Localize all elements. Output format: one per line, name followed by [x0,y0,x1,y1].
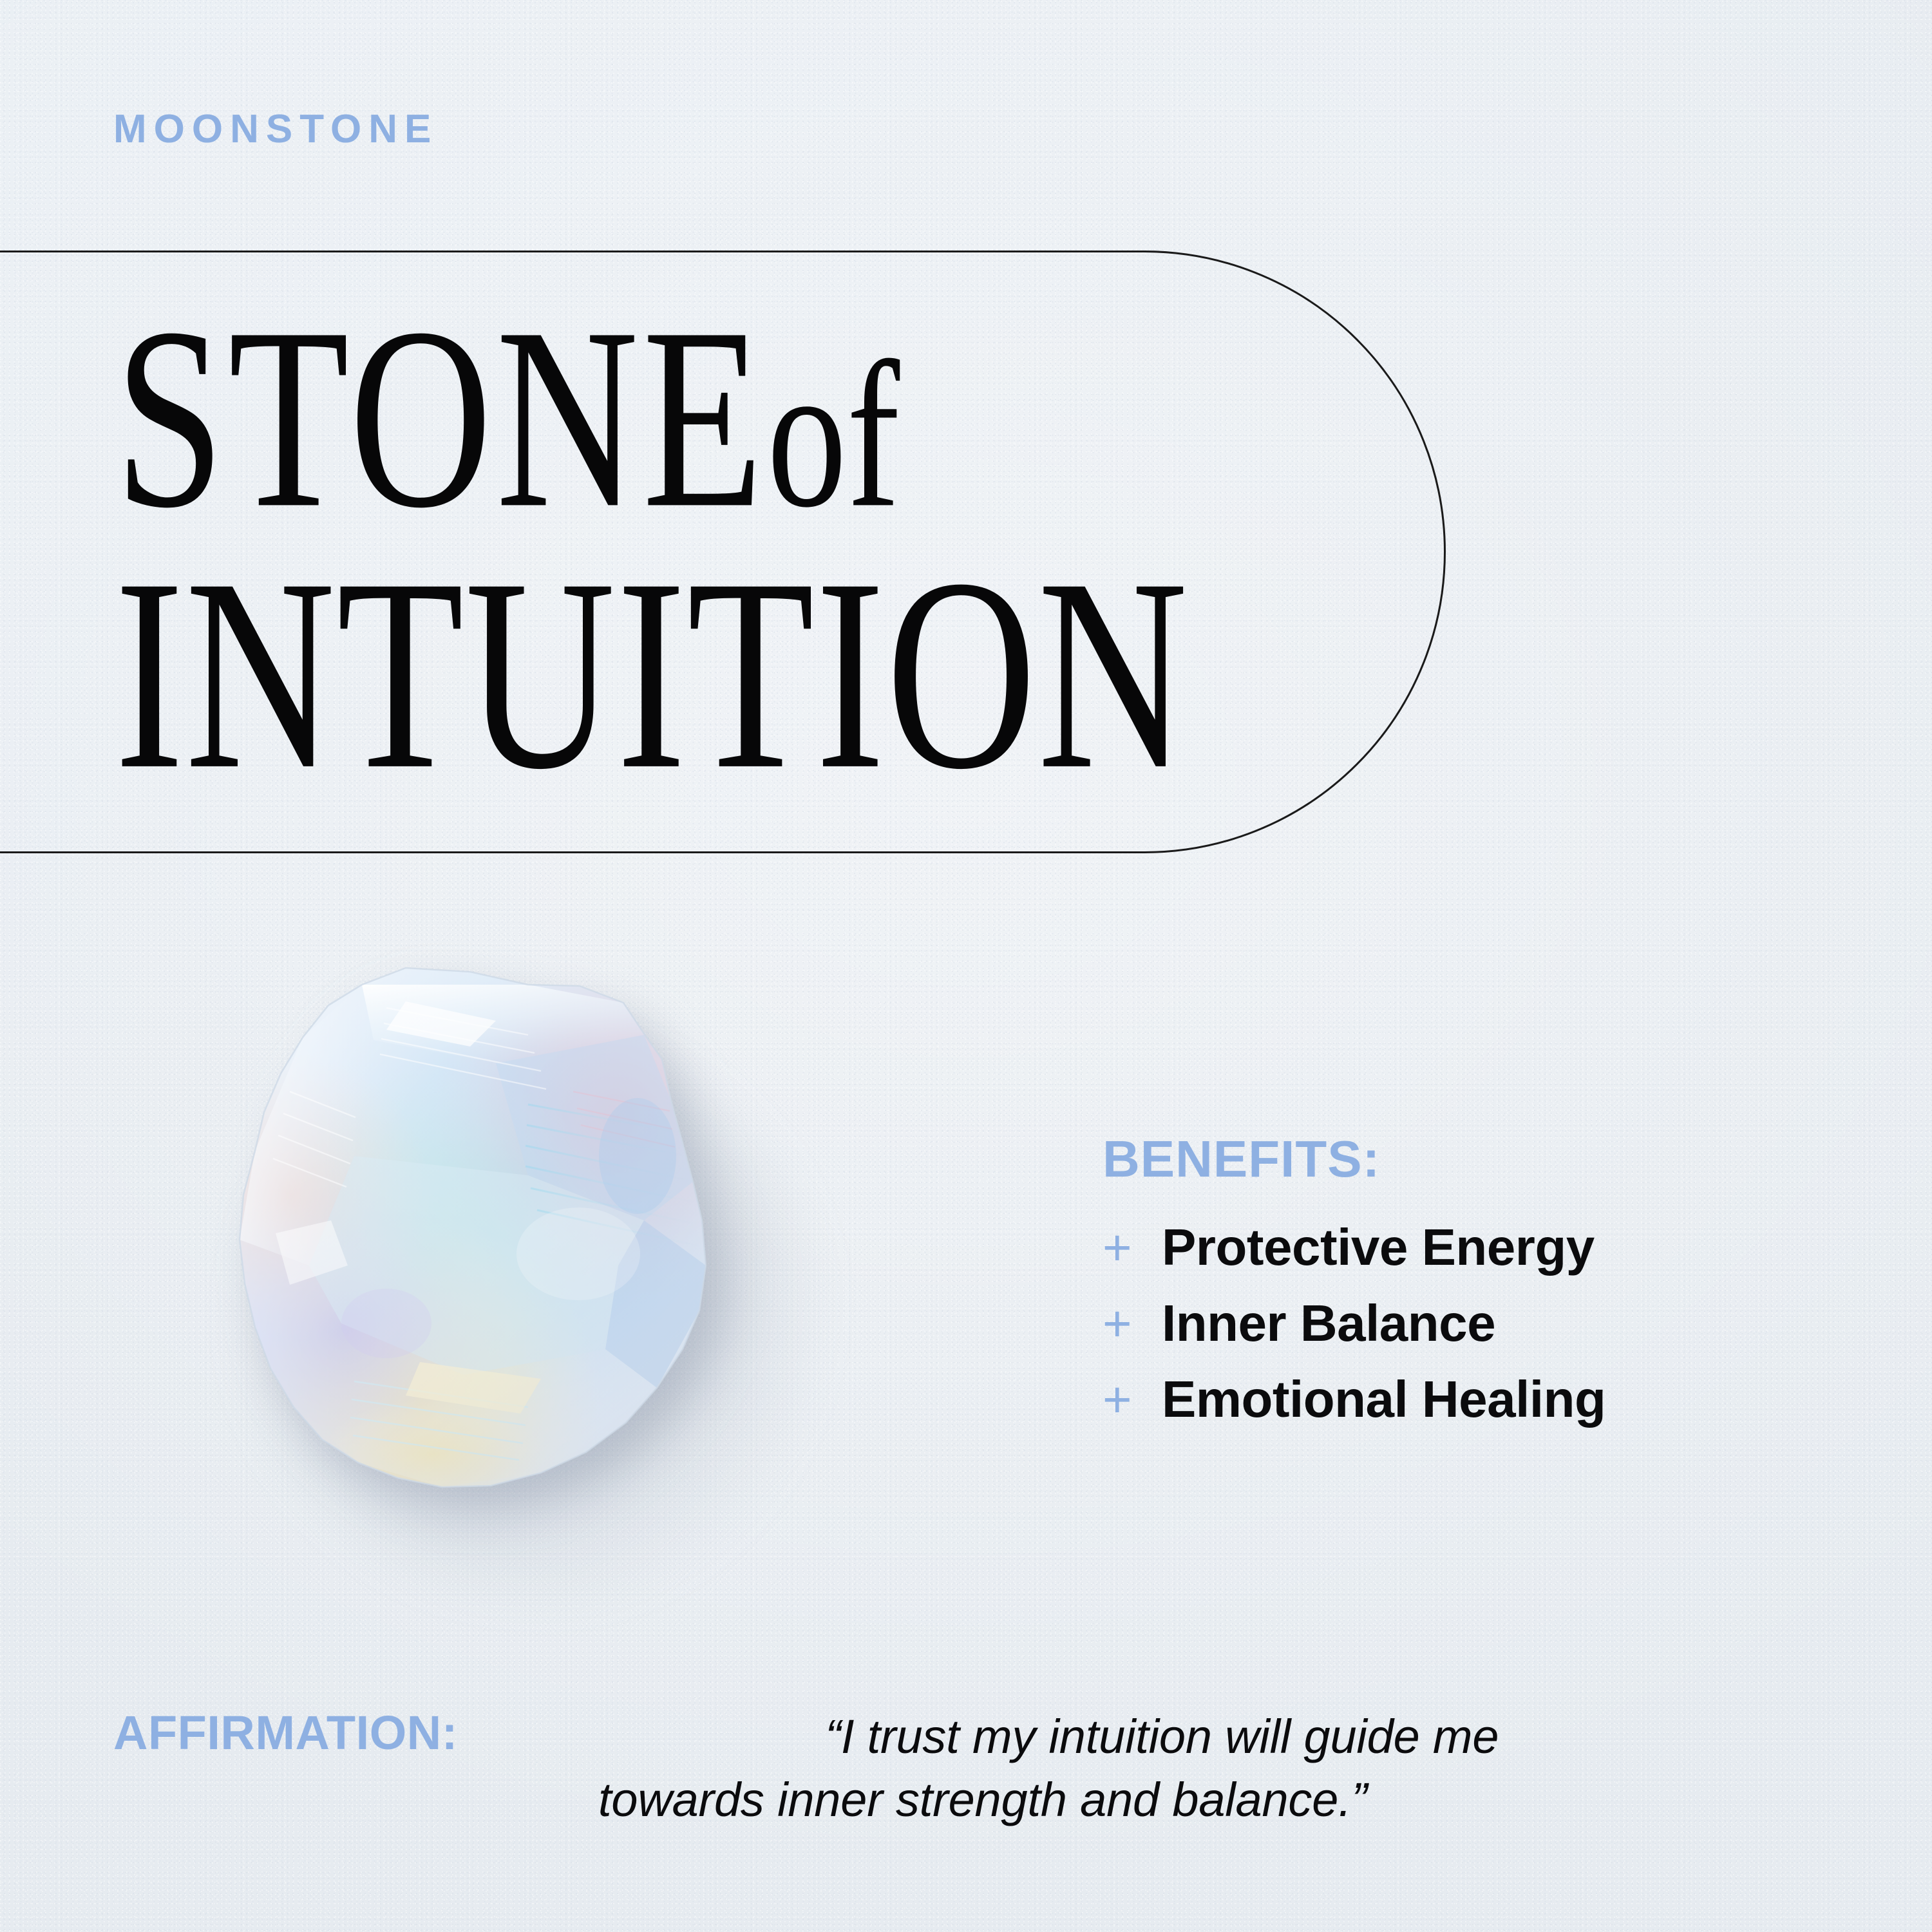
moonstone-crystal-icon [193,963,734,1517]
headline-line-2: INTUITION [115,546,1447,803]
headline-word-stone: STONE [115,275,767,562]
benefit-label: Protective Energy [1162,1222,1595,1273]
crystal-info-card: MOONSTONE STONEof INTUITION [0,0,1932,1932]
affirmation-quote-line-2: towards inner strength and balance.” [113,1768,1852,1832]
benefits-section: BENEFITS: + Protective Energy + Inner Ba… [1103,1133,1875,1437]
headline-word-of: of [767,319,900,551]
benefit-label: Inner Balance [1162,1298,1495,1349]
benefits-title: BENEFITS: [1103,1133,1875,1185]
headline-line-1: STONEof [115,298,1454,540]
page-title: STONEof INTUITION [115,298,1467,744]
eyebrow-label: MOONSTONE [113,109,438,149]
plus-icon: + [1103,1298,1162,1349]
benefit-item: + Inner Balance [1103,1285,1875,1361]
benefit-item: + Emotional Healing [1103,1361,1875,1437]
affirmation-label: AFFIRMATION: [113,1705,458,1760]
plus-icon: + [1103,1222,1162,1273]
benefit-label: Emotional Healing [1162,1374,1605,1425]
crystal-image-container [193,963,811,1594]
plus-icon: + [1103,1374,1162,1425]
affirmation-quote-line-1: “I trust my intuition will guide me [826,1710,1499,1763]
benefit-item: + Protective Energy [1103,1209,1875,1285]
affirmation-section: AFFIRMATION: “I trust my intuition will … [113,1705,1852,1831]
